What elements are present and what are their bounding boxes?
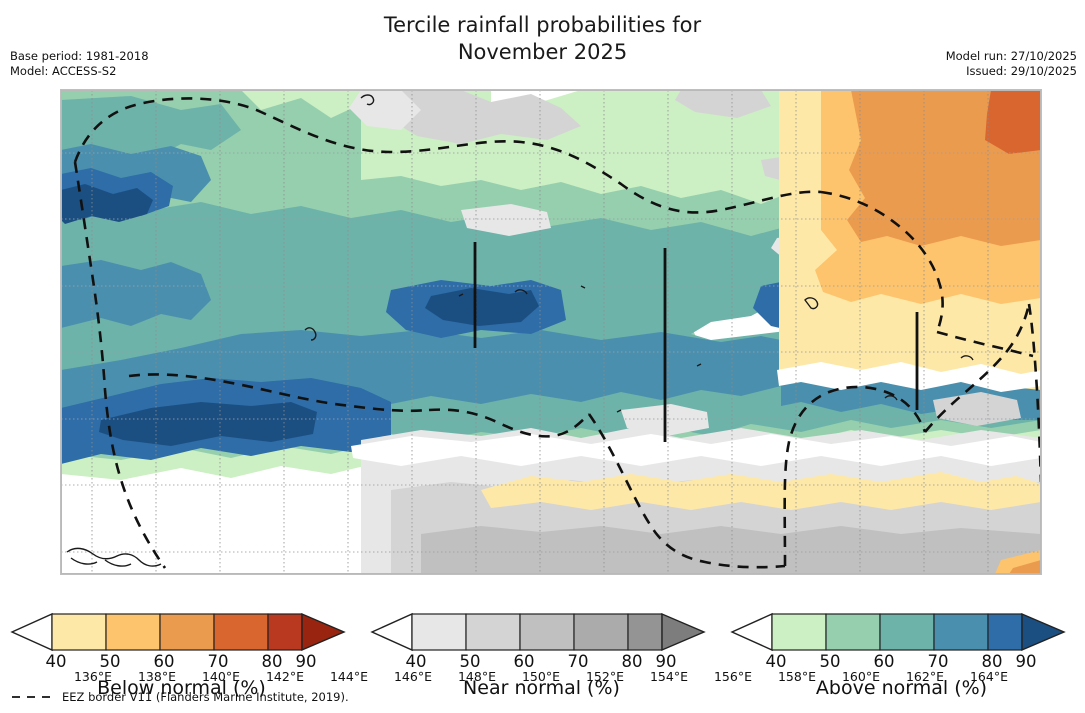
swatch-near-70-80 [574,614,628,650]
cbar-below-tick-40: 40 [31,653,81,671]
map-plot: © Commonwealth of Australia 2025, Bureau… [60,89,1042,575]
contour-below-70 [985,90,1041,154]
swatch-below-under [12,614,52,650]
dashed-line-icon [10,692,56,702]
swatch-near-under [372,614,412,650]
colorbar-above-title: Above normal (%) [724,677,1079,699]
swatch-near-60-70 [520,614,574,650]
swatch-near-80-90 [628,614,662,650]
colorbar-near-title: Near normal (%) [364,677,719,699]
swatch-above-50-60 [826,614,880,650]
cbar-above-tick-50: 50 [805,653,855,671]
colorbar-below-ticklabels: 40 50 60 70 80 90 [4,653,359,673]
swatch-near-40-50 [412,614,466,650]
colorbar-below-normal-swatches [4,612,352,652]
cbar-near-tick-50: 50 [445,653,495,671]
swatch-below-40-50 [52,614,106,650]
cbar-above-tick-60: 60 [859,653,909,671]
colorbar-near-normal-swatches [364,612,712,652]
swatch-above-70-80 [934,614,988,650]
swatch-above-under [732,614,772,650]
map-canvas[interactable]: © Commonwealth of Australia 2025, Bureau… [60,89,1042,575]
swatch-below-50-60 [106,614,160,650]
eez-border-label: EEZ border V11 (Flanders Marine Institut… [62,690,349,704]
cbar-below-tick-90: 90 [281,653,331,671]
swatch-below-70-80 [214,614,268,650]
contour-near-60 [421,526,1041,574]
cbar-below-tick-70: 70 [193,653,243,671]
swatch-above-40-50 [772,614,826,650]
tercile-contour-field [61,90,1041,574]
cbar-near-tick-90: 90 [641,653,691,671]
run-metadata: Model run: 27/10/2025 Issued: 29/10/2025 [946,49,1077,79]
swatch-above-80-90 [988,614,1022,650]
eez-border-legend: EEZ border V11 (Flanders Marine Institut… [10,690,349,704]
swatch-near-over [662,614,704,650]
colorbar-near-ticklabels: 40 50 60 70 80 90 [364,653,719,673]
colorbar-above-normal[interactable]: 40 50 60 70 80 90 Above normal (%) [724,612,1079,707]
page-title: Tercile rainfall probabilities for Novem… [0,12,1085,66]
swatch-near-50-60 [466,614,520,650]
swatch-below-60-70 [160,614,214,650]
colorbar-above-normal-swatches [724,612,1072,652]
swatch-below-over [302,614,344,650]
swatch-below-80-90 [268,614,302,650]
swatch-above-over [1022,614,1064,650]
swatch-above-60-70 [880,614,934,650]
cbar-below-tick-60: 60 [139,653,189,671]
colorbar-above-ticklabels: 40 50 60 70 80 90 [724,653,1079,673]
cbar-below-tick-50: 50 [85,653,135,671]
model-metadata: Base period: 1981-2018 Model: ACCESS-S2 [10,49,149,79]
contour-above-70b [61,260,211,328]
cbar-near-tick-60: 60 [499,653,549,671]
cbar-above-tick-90: 90 [1001,653,1051,671]
cbar-near-tick-70: 70 [553,653,603,671]
cbar-near-tick-40: 40 [391,653,441,671]
cbar-above-tick-40: 40 [751,653,801,671]
cbar-above-tick-70: 70 [913,653,963,671]
colorbar-near-normal[interactable]: 40 50 60 70 80 90 Near normal (%) [364,612,719,707]
